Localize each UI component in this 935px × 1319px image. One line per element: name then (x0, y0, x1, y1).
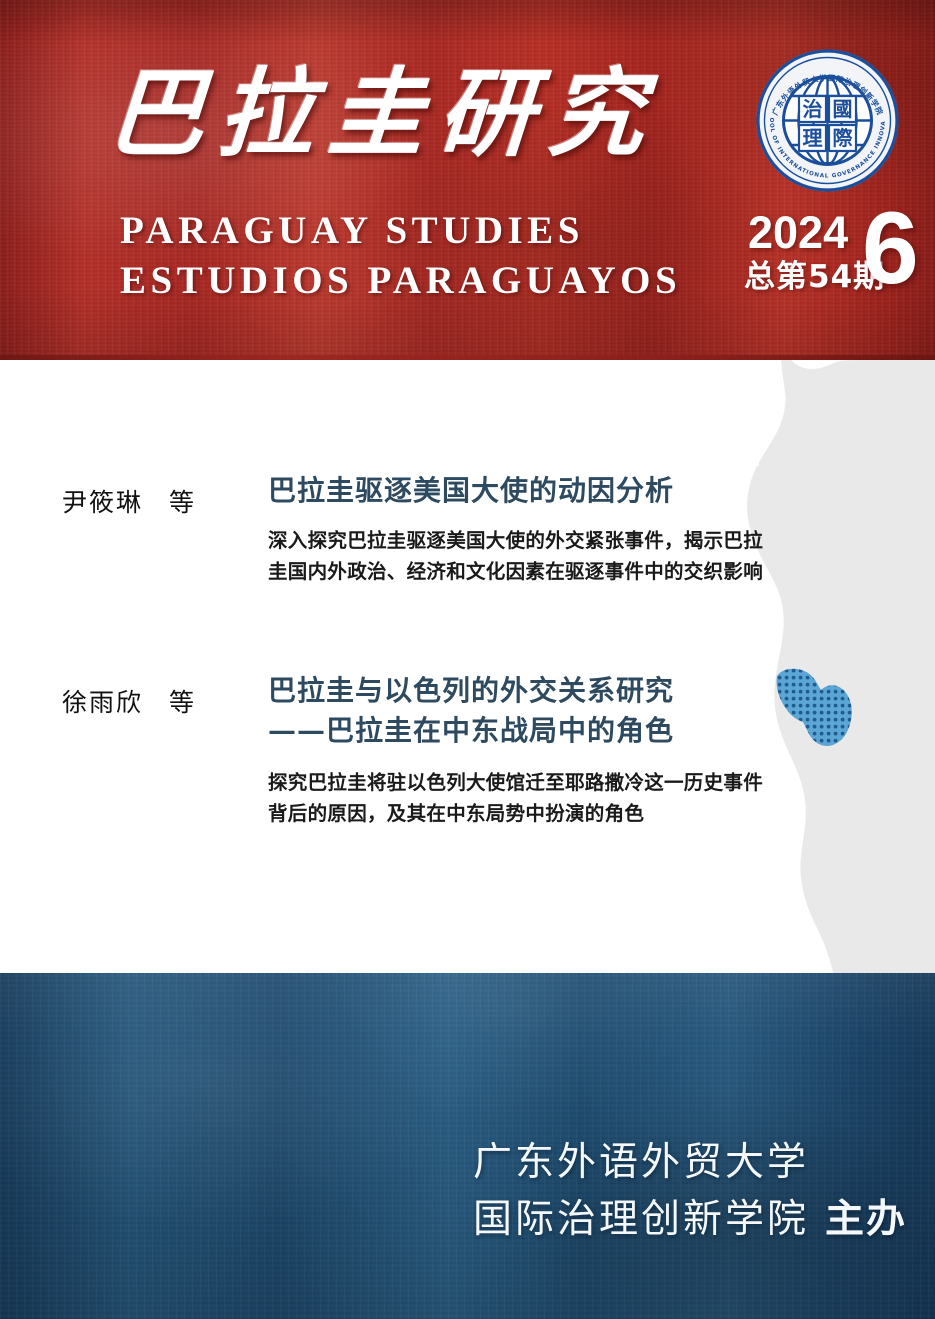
article-author-suffix: 等 (169, 688, 196, 717)
article-body: 巴拉圭与以色列的外交关系研究 ——巴拉圭在中东战局中的角色 探究巴拉圭将驻以色列… (268, 671, 888, 830)
article-title[interactable]: 巴拉圭驱逐美国大使的动因分析 (268, 471, 888, 511)
article-description-line: 探究巴拉圭将驻以色列大使馆迁至耶路撒冷这一历史事件 (268, 767, 868, 799)
article-subtitle: ——巴拉圭在中东战局中的角色 (268, 711, 888, 751)
masthead-chinese-title: 巴拉圭研究 (105, 66, 662, 162)
article-author-name: 徐雨欣 (62, 688, 143, 717)
svg-text:理: 理 (803, 126, 823, 150)
article-description-line: 背后的原因，及其在中东局势中扮演的角色 (268, 798, 868, 830)
publisher-school-name: 国际治理创新学院 (473, 1197, 809, 1242)
article-author: 尹筱琳等 (62, 483, 196, 519)
contents-section: 尹筱琳等 巴拉圭驱逐美国大使的动因分析 深入探究巴拉圭驱逐美国大使的外交紧张事件… (0, 360, 935, 973)
svg-text:治: 治 (803, 97, 823, 121)
article-description-line: 深入探究巴拉圭驱逐美国大使的外交紧张事件，揭示巴拉 (268, 525, 868, 557)
article-description: 探究巴拉圭将驻以色列大使馆迁至耶路撒冷这一历史事件 背后的原因，及其在中东局势中… (268, 767, 868, 830)
issue-number: 6 (862, 197, 919, 299)
publisher-university: 广东外语外贸大学 (473, 1131, 809, 1187)
publisher-role: 主办 (825, 1197, 907, 1242)
article-title[interactable]: 巴拉圭与以色列的外交关系研究 (268, 671, 888, 711)
article-author-suffix: 等 (169, 488, 196, 517)
article-author: 徐雨欣等 (62, 683, 196, 719)
svg-text:國: 國 (833, 97, 853, 121)
south-america-map-icon (685, 360, 935, 973)
masthead-spanish-title: ESTUDIOS PARAGUAYOS (120, 258, 681, 303)
article-body: 巴拉圭驱逐美国大使的动因分析 深入探究巴拉圭驱逐美国大使的外交紧张事件，揭示巴拉… (268, 471, 888, 588)
issue-year: 2024 (748, 210, 848, 255)
article-description: 深入探究巴拉圭驱逐美国大使的外交紧张事件，揭示巴拉 圭国内外政治、经济和文化因素… (268, 525, 868, 588)
publisher-school: 国际治理创新学院主办 (473, 1188, 907, 1244)
masthead-english-title: PARAGUAY STUDIES (120, 208, 584, 253)
university-seal-icon: 治 國 理 際 广东外语外贸大学国际治理创新学院 SCHOOL OF INTER… (755, 48, 900, 193)
article-description-line: 圭国内外政治、经济和文化因素在驱逐事件中的交织影响 (268, 556, 868, 588)
journal-cover: 巴拉圭研究 PARAGUAY STUDIES ESTUDIOS PARAGUAY… (0, 0, 935, 1319)
article-author-name: 尹筱琳 (62, 488, 143, 517)
svg-text:際: 際 (833, 126, 854, 150)
